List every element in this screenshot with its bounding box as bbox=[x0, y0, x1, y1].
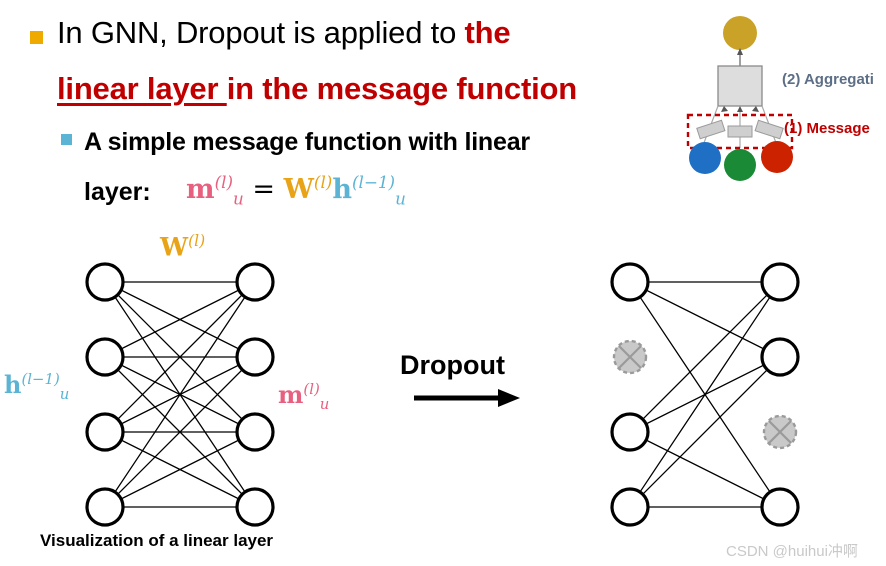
dropout-arrow-icon bbox=[412, 385, 522, 411]
right-network-edges bbox=[630, 282, 780, 507]
weight-symbol: W bbox=[160, 232, 188, 261]
bullet-1-text-red: the bbox=[465, 15, 511, 50]
node-right-2 bbox=[237, 339, 273, 375]
formula-m-superscript: (l) bbox=[215, 172, 233, 192]
aggregation-label: (2) Aggregati bbox=[782, 71, 874, 88]
formula-h-subscript: u bbox=[395, 188, 406, 208]
hidden-vector-label: h(l−1)u bbox=[4, 370, 69, 403]
right-network-diagram bbox=[605, 255, 810, 535]
node-left-4 bbox=[612, 489, 648, 525]
h-subscript: u bbox=[60, 385, 70, 403]
message-function-formula: m(l)u = W(l)h(l−1)u bbox=[186, 172, 406, 208]
node-left-3 bbox=[612, 414, 648, 450]
neighbor-node-red-icon bbox=[761, 141, 793, 173]
node-left-1 bbox=[87, 264, 123, 300]
slide-canvas: In GNN, Dropout is applied to the linear… bbox=[0, 0, 886, 566]
node-right-1 bbox=[762, 264, 798, 300]
left-network-diagram bbox=[80, 255, 285, 535]
bullet-2-line-2-prefix: layer: bbox=[84, 178, 151, 207]
dropout-transition-label: Dropout bbox=[400, 350, 505, 381]
aggregation-box-icon bbox=[718, 66, 762, 106]
message-vector-label: m(l)u bbox=[278, 380, 329, 413]
node-right-4 bbox=[762, 489, 798, 525]
gnn-message-passing-diagram bbox=[660, 8, 820, 183]
left-network-edges bbox=[105, 282, 255, 507]
bullet-1-underlined-text: linear layer bbox=[57, 71, 227, 106]
dropped-node-right-3 bbox=[764, 416, 796, 448]
message-label: (1) Message bbox=[784, 120, 870, 137]
node-right-4 bbox=[237, 489, 273, 525]
formula-w-superscript: (l) bbox=[314, 172, 332, 192]
target-node-icon bbox=[723, 16, 757, 50]
formula-equals: = bbox=[252, 174, 275, 205]
csdn-watermark: CSDN @huihui冲啊 bbox=[726, 540, 858, 561]
h-symbol: h bbox=[4, 370, 21, 399]
formula-m-symbol: m bbox=[186, 174, 215, 205]
bullet-marker-level2 bbox=[61, 134, 72, 145]
m-superscript: (l) bbox=[303, 380, 319, 398]
diagram-caption: Visualization of a linear layer bbox=[40, 531, 273, 551]
formula-h-superscript: (l−1) bbox=[352, 172, 395, 192]
bullet-1-line-1: In GNN, Dropout is applied to the bbox=[57, 14, 510, 52]
formula-w-symbol: W bbox=[284, 174, 314, 205]
dropped-node-left-2 bbox=[614, 341, 646, 373]
bullet-1-text-black: In GNN, Dropout is applied to bbox=[57, 15, 465, 50]
bullet-1-line-2: linear layer in the message function bbox=[57, 70, 577, 108]
h-superscript: (l−1) bbox=[21, 370, 59, 388]
node-left-4 bbox=[87, 489, 123, 525]
bullet-1-line2-rest: in the message function bbox=[227, 71, 577, 106]
m-symbol: m bbox=[278, 380, 303, 409]
node-left-3 bbox=[87, 414, 123, 450]
node-left-1 bbox=[612, 264, 648, 300]
formula-h-symbol: h bbox=[332, 174, 352, 205]
neighbor-node-green-icon bbox=[724, 149, 756, 181]
bullet-2-line-1: A simple message function with linear bbox=[84, 126, 530, 158]
node-right-3 bbox=[237, 414, 273, 450]
weight-superscript: (l) bbox=[188, 232, 205, 250]
weight-matrix-label: W(l) bbox=[160, 232, 205, 261]
node-right-2 bbox=[762, 339, 798, 375]
node-right-1 bbox=[237, 264, 273, 300]
node-left-2 bbox=[87, 339, 123, 375]
bullet-marker-level1 bbox=[30, 31, 43, 44]
m-subscript: u bbox=[320, 395, 330, 413]
formula-m-subscript: u bbox=[233, 188, 244, 208]
neighbor-node-blue-icon bbox=[689, 142, 721, 174]
